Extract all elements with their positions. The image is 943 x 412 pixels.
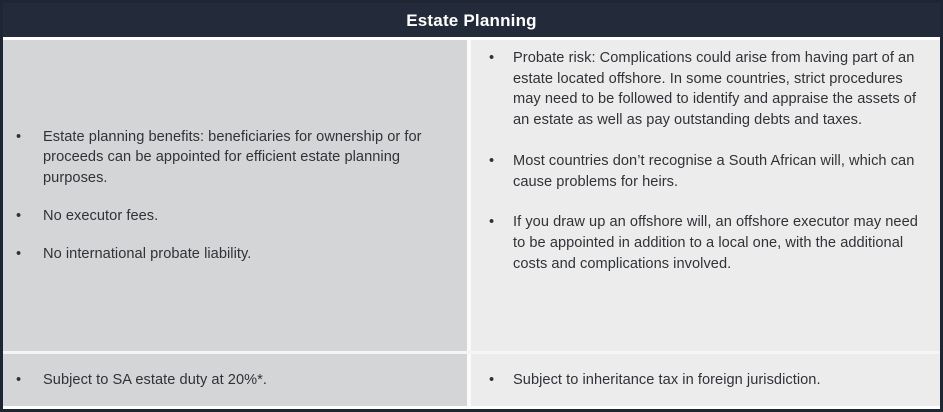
list-item-text: Subject to inheritance tax in foreign ju… (513, 372, 821, 388)
bullet-icon: • (16, 206, 30, 227)
list-item-text: No executor fees. (43, 208, 158, 224)
sa-tax-bullet-list: • Subject to SA estate duty at 20%*. (13, 370, 453, 391)
page-title: Estate Planning (406, 12, 537, 29)
list-item-text: Subject to SA estate duty at 20%*. (43, 372, 267, 388)
disadvantages-column: • Probate risk: Complications could aris… (471, 40, 940, 351)
list-item-text: Most countries don’t recognise a South A… (513, 153, 914, 190)
table-row: • Subject to SA estate duty at 20%*. • S… (3, 351, 940, 406)
list-item-text: Probate risk: Complications could arise … (513, 50, 916, 128)
bullet-icon: • (489, 370, 503, 391)
bullet-icon: • (16, 370, 30, 391)
list-item-text: No international probate liability. (43, 246, 251, 262)
disadvantages-bullet-list: • Probate risk: Complications could aris… (481, 48, 926, 274)
list-item: • If you draw up an offshore will, an of… (481, 212, 926, 274)
estate-planning-table: Estate Planning • Estate planning benefi… (0, 0, 943, 412)
list-item: • Probate risk: Complications could aris… (481, 48, 926, 131)
list-item: • Subject to inheritance tax in foreign … (481, 370, 926, 391)
bullet-icon: • (16, 127, 30, 148)
bullet-icon: • (16, 244, 30, 265)
table-header: Estate Planning (3, 3, 940, 40)
foreign-tax-column: • Subject to inheritance tax in foreign … (471, 354, 940, 406)
bullet-icon: • (489, 212, 503, 233)
advantages-column: • Estate planning benefits: beneficiarie… (3, 40, 471, 351)
list-item: • No international probate liability. (13, 244, 453, 265)
table-row: • Estate planning benefits: beneficiarie… (3, 40, 940, 351)
table-body: • Estate planning benefits: beneficiarie… (3, 40, 940, 406)
list-item-text: Estate planning benefits: beneficiaries … (43, 129, 422, 186)
foreign-tax-bullet-list: • Subject to inheritance tax in foreign … (481, 370, 926, 391)
sa-tax-column: • Subject to SA estate duty at 20%*. (3, 354, 471, 406)
advantages-bullet-list: • Estate planning benefits: beneficiarie… (13, 127, 453, 265)
list-item: • Most countries don’t recognise a South… (481, 151, 926, 192)
bullet-icon: • (489, 48, 503, 69)
list-item: • Estate planning benefits: beneficiarie… (13, 127, 453, 189)
list-item: • No executor fees. (13, 206, 453, 227)
list-item: • Subject to SA estate duty at 20%*. (13, 370, 453, 391)
list-item-text: If you draw up an offshore will, an offs… (513, 214, 918, 271)
bullet-icon: • (489, 151, 503, 172)
